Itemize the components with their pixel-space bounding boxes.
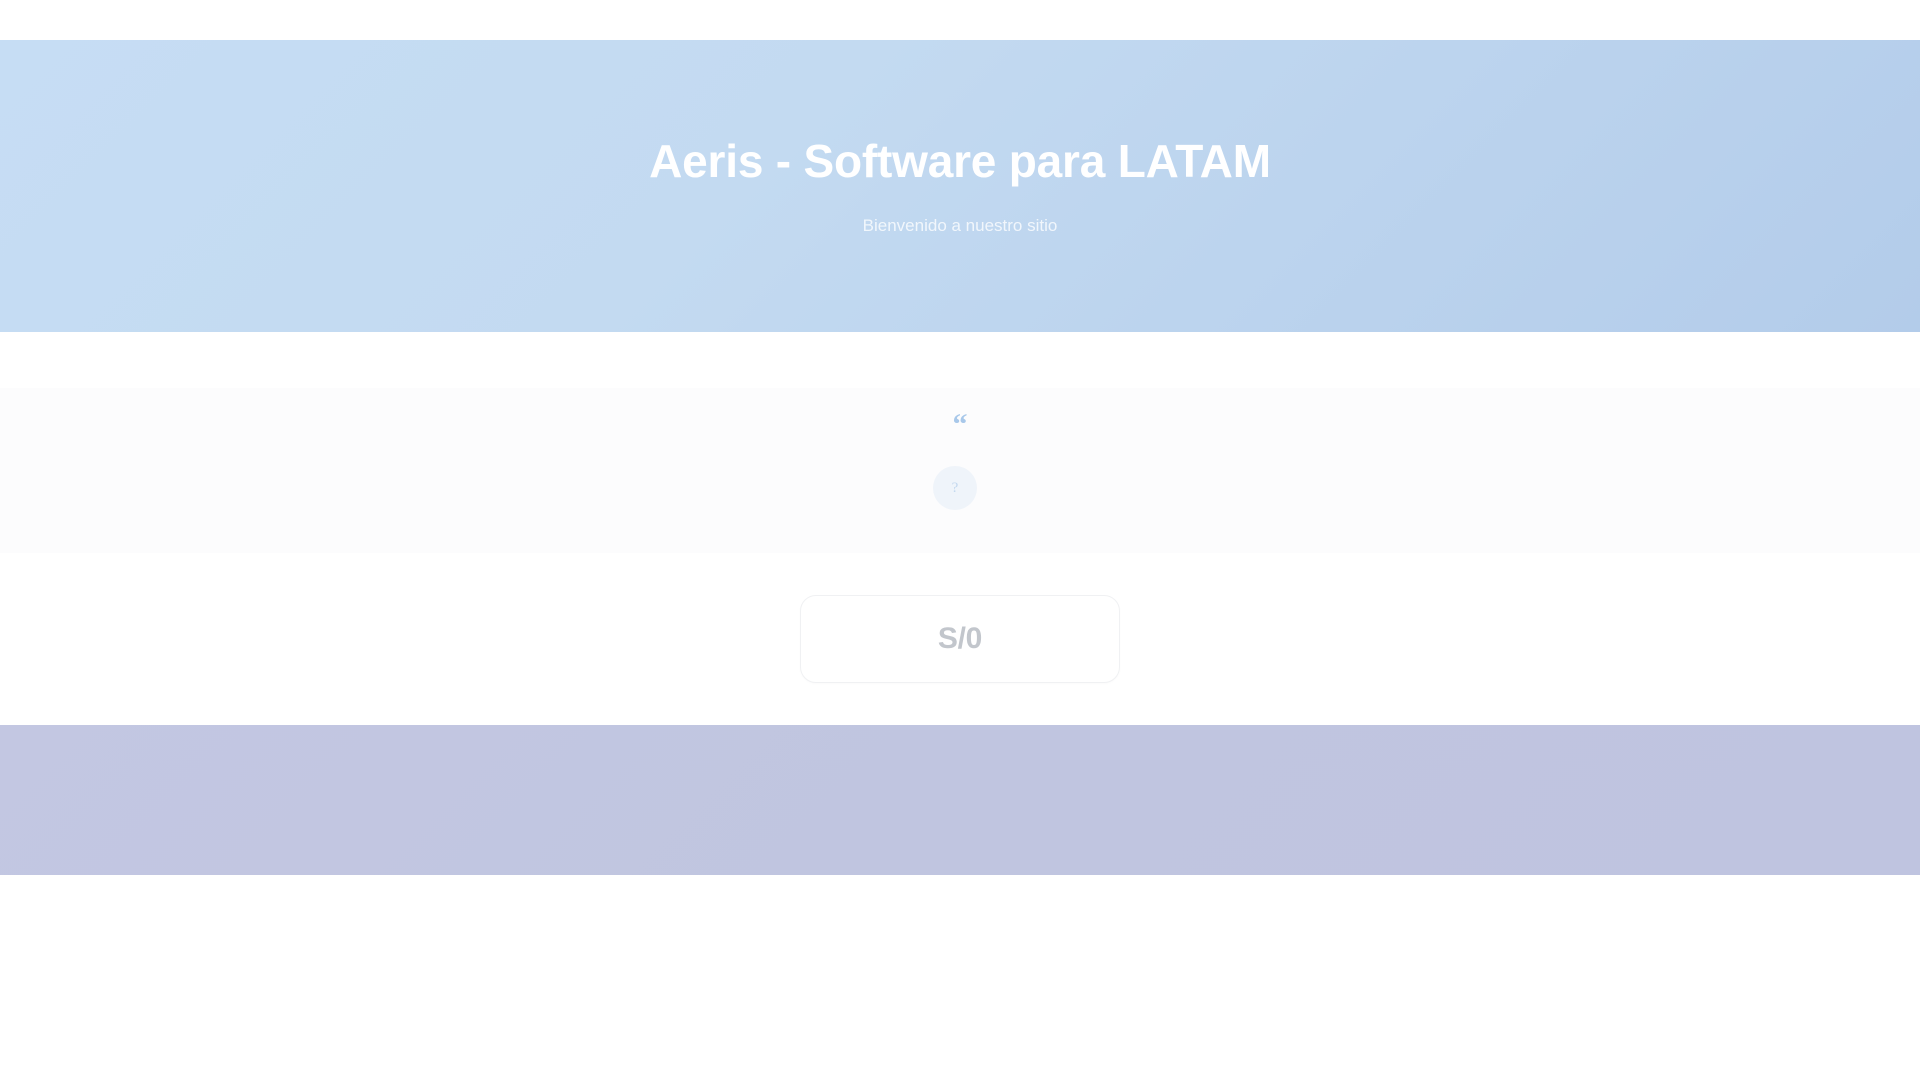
testimonials-section: “ ? bbox=[0, 388, 1920, 553]
testimonial-item: ? bbox=[933, 452, 977, 516]
pricing-amount: S/0 bbox=[938, 624, 982, 654]
hero-bottom-gap bbox=[0, 332, 1920, 388]
cta-section bbox=[0, 725, 1920, 875]
bottom-white-area bbox=[0, 875, 1920, 1080]
pricing-card[interactable]: S/0 bbox=[800, 595, 1120, 683]
hero-subtitle: Bienvenido a nuestro sitio bbox=[863, 214, 1058, 238]
page-root: Aeris - Software para LATAM Bienvenido a… bbox=[0, 0, 1920, 1080]
avatar: ? bbox=[933, 466, 977, 510]
quote-icon: “ bbox=[953, 410, 968, 440]
broken-image-placeholder-icon: ? bbox=[952, 481, 959, 496]
top-white-strip bbox=[0, 0, 1920, 40]
hero-section: Aeris - Software para LATAM Bienvenido a… bbox=[0, 40, 1920, 332]
page-title: Aeris - Software para LATAM bbox=[649, 135, 1271, 188]
pricing-section: S/0 bbox=[0, 553, 1920, 725]
